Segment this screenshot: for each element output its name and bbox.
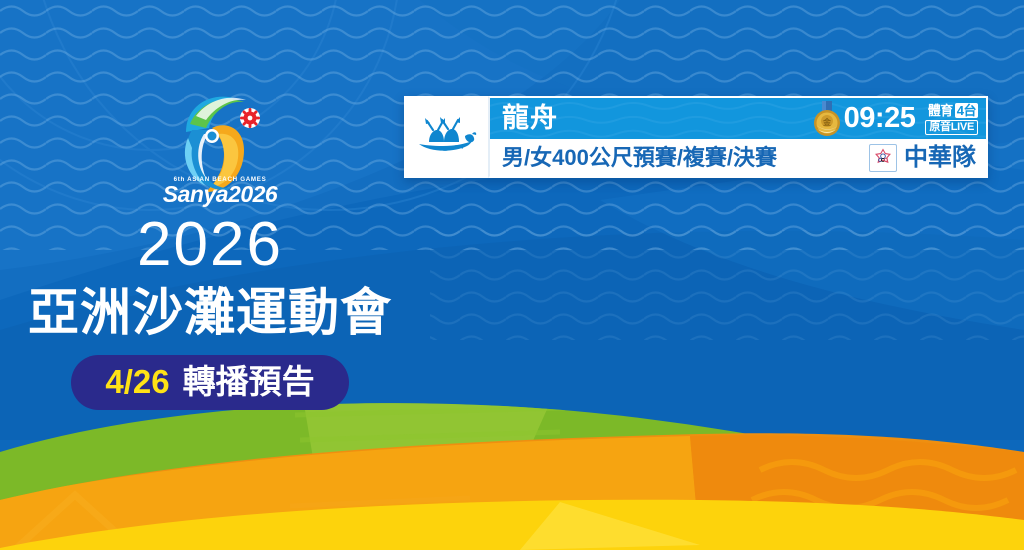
- headline-year: 2026: [0, 214, 420, 276]
- sanya-2026-games-logo: 6th ASIAN BEACH GAMES Sanya2026: [152, 84, 288, 210]
- headline-block: 2026 亞洲沙灘運動會 4/26 轉播預告: [0, 214, 420, 410]
- broadcast-promo-poster: 6th ASIAN BEACH GAMES Sanya2026: [0, 0, 1024, 550]
- chinese-taipei-emblem: [869, 144, 897, 172]
- channel-block: 體育 4台 原音LIVE: [925, 103, 978, 135]
- sport-name: 龍舟: [502, 105, 812, 132]
- gold-medal-icon: 金: [812, 101, 842, 137]
- channel-line: 體育 4台: [928, 103, 978, 118]
- svg-text:金: 金: [822, 117, 832, 127]
- logo-wordmark: Sanya2026: [163, 181, 278, 207]
- event-detail: 男/女400公尺預賽/複賽/決賽: [502, 147, 869, 169]
- team-name: 中華隊: [904, 146, 976, 170]
- badge-label: 轉播預告: [183, 365, 315, 398]
- sport-icon-box: [404, 96, 488, 178]
- banner-body: 龍舟 金 09:25 體育: [488, 96, 988, 178]
- dragon-boat-icon: [415, 116, 477, 158]
- team-block: 中華隊: [869, 144, 976, 172]
- start-time: 09:25: [844, 104, 916, 133]
- live-badge: 原音LIVE: [925, 120, 978, 135]
- channel-number: 4台: [955, 103, 978, 118]
- broadcast-preview-badge: 4/26 轉播預告: [71, 355, 348, 410]
- badge-date: 4/26: [105, 365, 169, 398]
- channel-text: 體育: [928, 104, 953, 117]
- headline-title: 亞洲沙灘運動會: [0, 287, 420, 338]
- schedule-banner: 龍舟 金 09:25 體育: [404, 96, 988, 178]
- banner-detail-row: 男/女400公尺預賽/複賽/決賽: [490, 139, 986, 176]
- banner-title-row: 龍舟 金 09:25 體育: [490, 98, 986, 139]
